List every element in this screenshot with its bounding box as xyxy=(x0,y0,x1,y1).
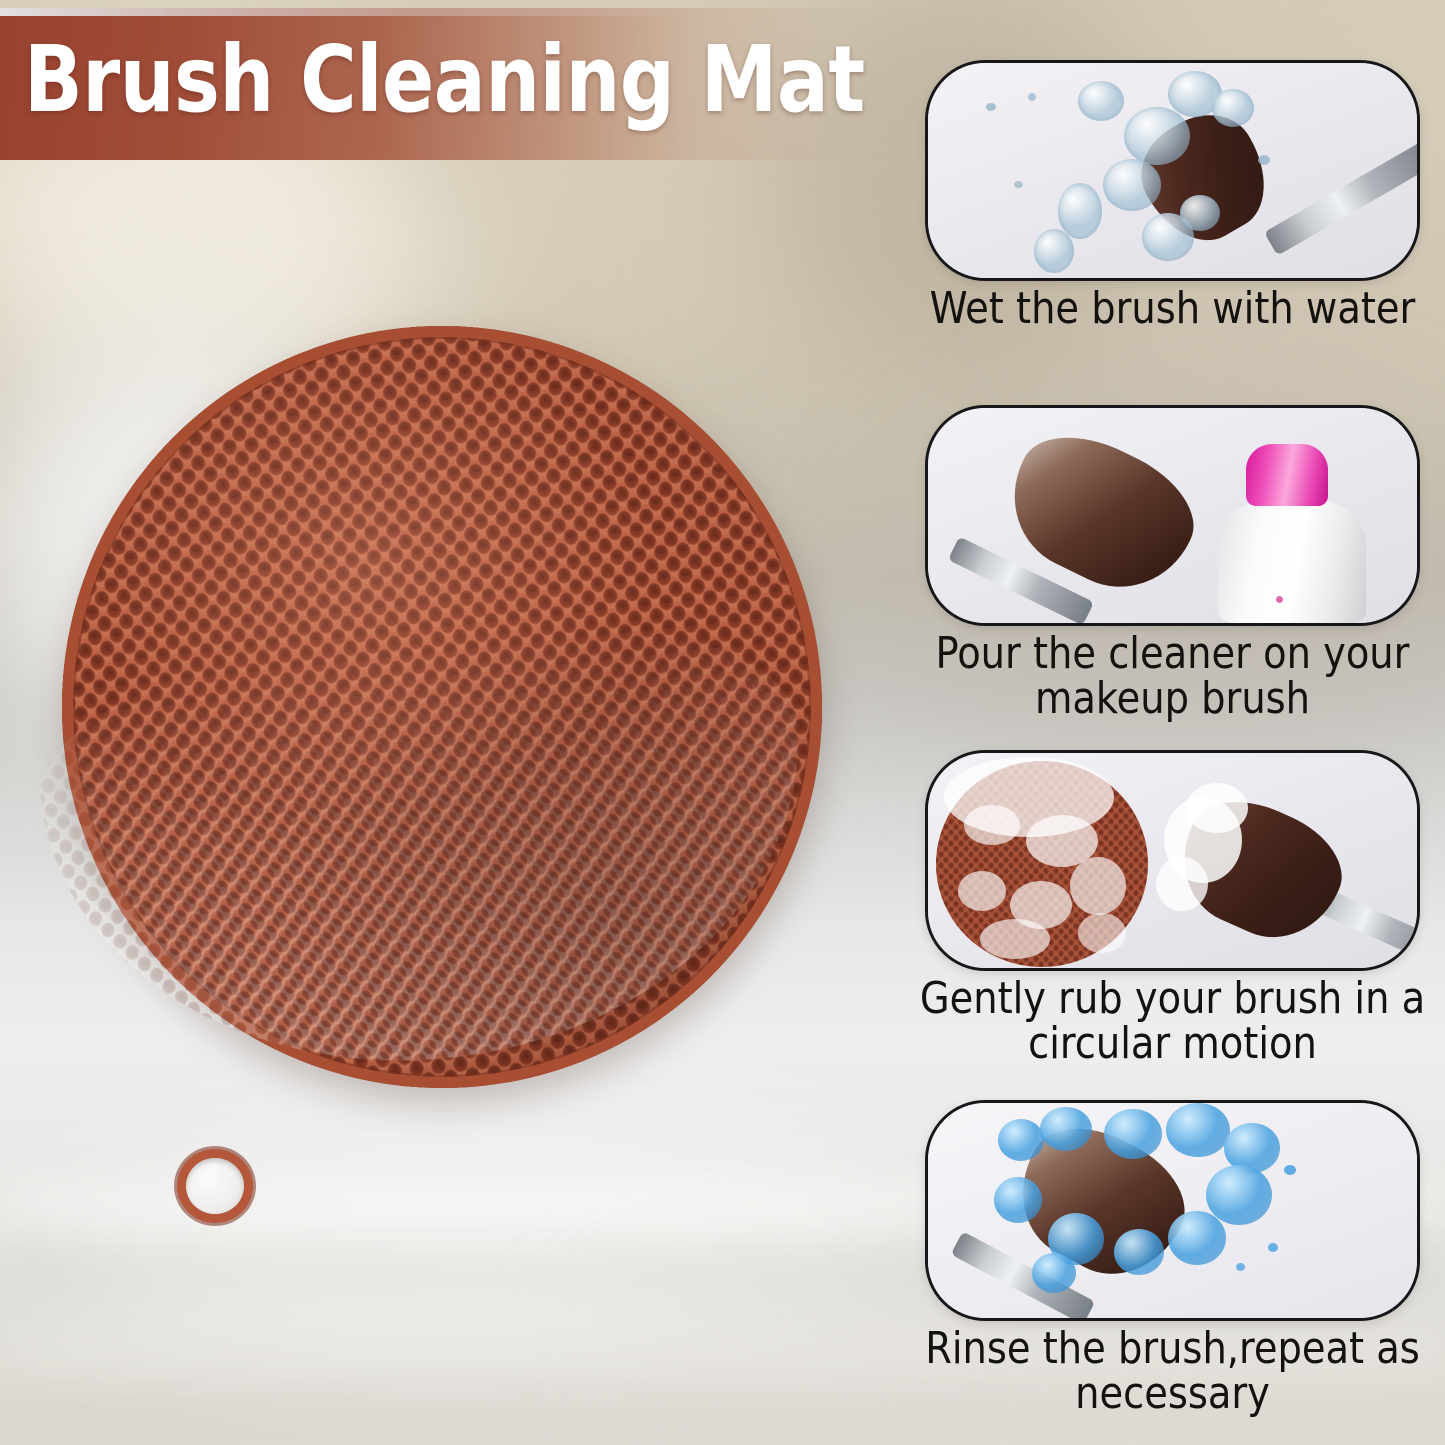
step-4-caption-line2: necessary xyxy=(908,1372,1437,1417)
step-4-image-panel[interactable] xyxy=(925,1100,1420,1321)
bottle-cap-icon xyxy=(1246,444,1328,506)
mat-reflection xyxy=(27,591,828,1098)
step-1-image-panel[interactable] xyxy=(925,60,1420,281)
water-splash-icon xyxy=(1124,107,1190,165)
water-splash-icon xyxy=(1103,159,1161,211)
water-splash-icon xyxy=(1114,1229,1164,1275)
step-2-artwork xyxy=(928,408,1417,623)
water-drop-icon xyxy=(986,103,996,111)
water-splash-icon xyxy=(1058,183,1102,239)
water-splash-icon xyxy=(1180,195,1220,231)
water-splash-icon xyxy=(1032,1253,1076,1293)
water-drop-icon xyxy=(1028,93,1036,101)
step-1-caption-line1: Wet the brush with water xyxy=(930,283,1416,334)
water-splash-icon xyxy=(1034,229,1074,273)
water-splash-icon xyxy=(1168,1211,1226,1265)
water-splash-icon xyxy=(1206,1165,1272,1225)
banner-top-strip xyxy=(0,8,700,16)
water-splash-icon xyxy=(994,1177,1042,1223)
step-3-caption-line2: circular motion xyxy=(908,1022,1437,1067)
water-drop-icon xyxy=(1014,181,1023,188)
reflection-honeycomb-pattern xyxy=(27,591,828,1098)
step-2-caption-line1: Pour the cleaner on your xyxy=(936,628,1410,679)
step-2-caption-line2: makeup brush xyxy=(908,677,1437,722)
foam-icon xyxy=(1156,857,1208,911)
step-2-caption: Pour the cleaner on your makeup brush xyxy=(908,632,1437,722)
step-4-caption-line1: Rinse the brush,repeat as xyxy=(925,1323,1420,1374)
foam-icon xyxy=(1070,857,1126,915)
step-4-artwork xyxy=(928,1103,1417,1318)
title-banner: Brush Cleaning Mat xyxy=(0,8,1000,160)
step-3-image-panel[interactable] xyxy=(925,750,1420,971)
cleaner-bottle-icon xyxy=(1218,496,1366,626)
step-3-caption-line1: Gently rub your brush in a xyxy=(920,973,1425,1024)
product-infographic: Brush Cleaning Mat xyxy=(0,0,1445,1445)
step-3-caption: Gently rub your brush in a circular moti… xyxy=(908,977,1437,1067)
step-1: Wet the brush with water xyxy=(900,60,1445,332)
foam-icon xyxy=(1078,913,1126,953)
step-4-caption: Rinse the brush,repeat as necessary xyxy=(908,1327,1437,1417)
bottle-dot-icon xyxy=(1276,596,1283,603)
water-drop-icon xyxy=(1284,1165,1296,1175)
step-2-image-panel[interactable] xyxy=(925,405,1420,626)
step-2: Pour the cleaner on your makeup brush xyxy=(900,405,1445,722)
hanging-hole xyxy=(186,1158,244,1214)
foam-icon xyxy=(1186,783,1248,833)
water-splash-icon xyxy=(1166,1103,1230,1157)
water-drop-icon xyxy=(1268,1243,1278,1252)
water-splash-icon xyxy=(1040,1107,1092,1151)
water-drop-icon xyxy=(1236,1263,1245,1271)
step-4: Rinse the brush,repeat as necessary xyxy=(900,1100,1445,1417)
step-1-caption: Wet the brush with water xyxy=(908,287,1437,332)
page-title: Brush Cleaning Mat xyxy=(24,34,865,126)
step-1-artwork xyxy=(928,63,1417,278)
instruction-steps: Wet the brush with water Pour the cleane… xyxy=(900,60,1445,1445)
water-drop-icon xyxy=(1258,155,1270,165)
step-3: Gently rub your brush in a circular moti… xyxy=(900,750,1445,1067)
water-splash-icon xyxy=(1212,89,1254,127)
water-splash-icon xyxy=(1078,81,1124,121)
foam-icon xyxy=(980,919,1050,959)
foam-icon xyxy=(964,805,1020,845)
foam-icon xyxy=(958,871,1006,911)
water-splash-icon xyxy=(1104,1109,1162,1159)
step-3-artwork xyxy=(928,753,1417,968)
water-splash-icon xyxy=(998,1119,1044,1161)
